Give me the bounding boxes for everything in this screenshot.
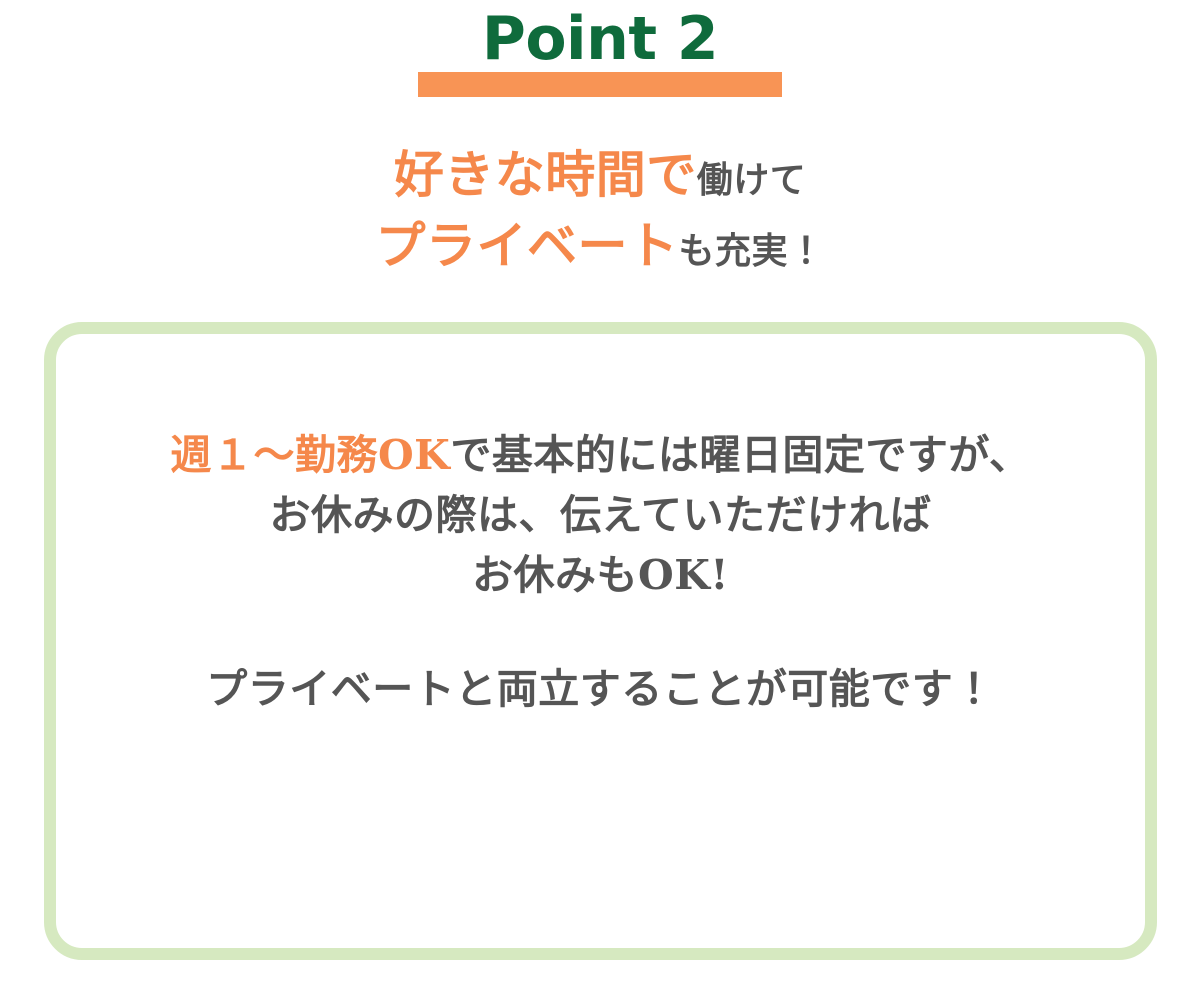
card-body-line-3: お休みもOK! — [90, 546, 1111, 606]
content-card: 週１〜勤務OKで基本的には曜日固定ですが、 お休みの際は、伝えていただければ お… — [44, 322, 1157, 960]
card-body-line-4: プライベートと両立することが可能です！ — [90, 660, 1111, 720]
sub-heading-line-1-emphasis: 好きな時間で — [394, 146, 697, 204]
sub-heading-line-2-emphasis: プライベート — [375, 217, 678, 275]
card-body-spacer — [90, 606, 1111, 660]
card-body-line-1-rest: で基本的には曜日固定ですが、 — [450, 431, 1030, 479]
sub-heading-line-1-rest: 働けて — [697, 160, 807, 201]
point-2-promo-panel: Point 2 好きな時間で働けて プライベートも充実！ 週１〜勤務OKで基本的… — [0, 0, 1200, 1000]
sub-heading-line-1: 好きな時間で働けて — [0, 140, 1200, 211]
card-body-line-1: 週１〜勤務OKで基本的には曜日固定ですが、 — [90, 426, 1111, 486]
sub-heading: 好きな時間で働けて プライベートも充実！ — [0, 140, 1200, 282]
sub-heading-line-2: プライベートも充実！ — [0, 211, 1200, 282]
card-body-text: 週１〜勤務OKで基本的には曜日固定ですが、 お休みの際は、伝えていただければ お… — [56, 334, 1145, 719]
point-heading-inner: Point 2 — [448, 8, 752, 72]
card-body-line-2: お休みの際は、伝えていただければ — [90, 486, 1111, 546]
point-heading-label: Point 2 — [456, 8, 744, 72]
point-heading: Point 2 — [0, 8, 1200, 113]
orange-underline-bar — [418, 72, 782, 97]
sub-heading-line-2-rest: も充実！ — [678, 231, 824, 272]
card-body-line-1-emphasis: 週１〜勤務OK — [170, 431, 450, 479]
